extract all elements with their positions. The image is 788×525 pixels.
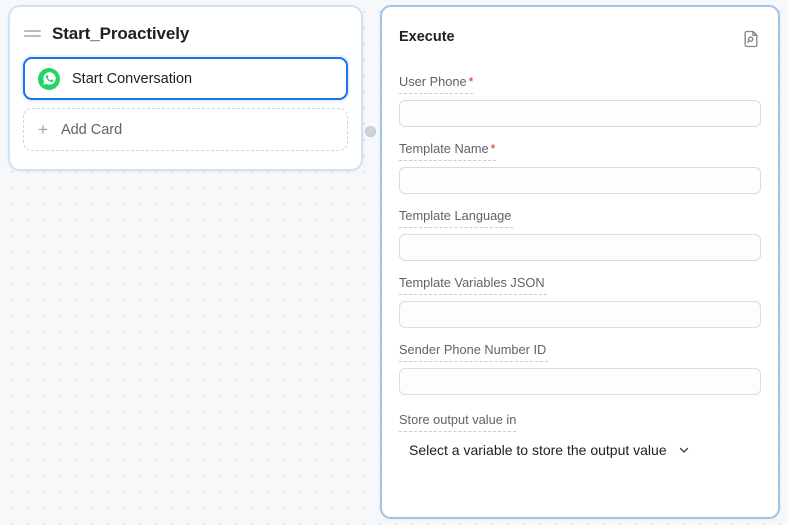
add-card-button[interactable]: + Add Card [23, 108, 348, 151]
sender-phone-number-id-input[interactable] [399, 368, 761, 395]
flow-card-list: Start Conversation + Add Card [10, 49, 361, 151]
flow-card-start-conversation[interactable]: Start Conversation [23, 57, 348, 100]
connector-dot[interactable] [365, 126, 376, 137]
required-marker: * [469, 75, 474, 89]
field-label-template-language: Template Language [399, 208, 513, 228]
field-label-template-variables-json: Template Variables JSON [399, 275, 547, 295]
document-search-icon[interactable] [741, 29, 761, 49]
drag-handle-icon[interactable] [24, 30, 41, 37]
properties-panel-header: Execute [399, 29, 761, 49]
field-label-user-phone: User Phone* [399, 74, 473, 94]
field-label-text: Template Name [399, 141, 489, 156]
flow-title: Start_Proactively [52, 24, 189, 44]
field-label-text: Template Variables JSON [399, 275, 545, 290]
template-variables-json-input[interactable] [399, 301, 761, 328]
flow-panel[interactable]: Start_Proactively Start Conversation + A… [8, 5, 363, 171]
flow-card-label: Start Conversation [72, 71, 192, 87]
field-label-text: Template Language [399, 208, 511, 223]
field-label-text: Sender Phone Number ID [399, 342, 546, 357]
panel-title: Execute [399, 29, 455, 45]
store-output-variable-select-label: Select a variable to store the output va… [409, 442, 667, 458]
properties-panel: Execute User Phone* Template Name* Templ… [380, 5, 780, 519]
add-card-label: Add Card [61, 122, 122, 138]
field-template-name: Template Name* [399, 140, 761, 194]
plus-icon: + [38, 121, 48, 138]
field-label-text: User Phone [399, 74, 467, 89]
field-store-output-value: Store output value in Select a variable … [399, 411, 761, 462]
field-template-language: Template Language [399, 207, 761, 261]
flow-panel-header: Start_Proactively [10, 7, 361, 49]
whatsapp-icon [38, 68, 60, 90]
field-label-store-output-value: Store output value in [399, 412, 516, 432]
field-template-variables-json: Template Variables JSON [399, 274, 761, 328]
field-sender-phone-number-id: Sender Phone Number ID [399, 341, 761, 395]
field-label-sender-phone-number-id: Sender Phone Number ID [399, 342, 548, 362]
template-name-input[interactable] [399, 167, 761, 194]
template-language-input[interactable] [399, 234, 761, 261]
user-phone-input[interactable] [399, 100, 761, 127]
store-output-variable-select[interactable]: Select a variable to store the output va… [399, 438, 699, 462]
field-user-phone: User Phone* [399, 73, 761, 127]
field-label-template-name: Template Name* [399, 141, 496, 161]
chevron-down-icon [677, 443, 691, 457]
required-marker: * [491, 142, 496, 156]
